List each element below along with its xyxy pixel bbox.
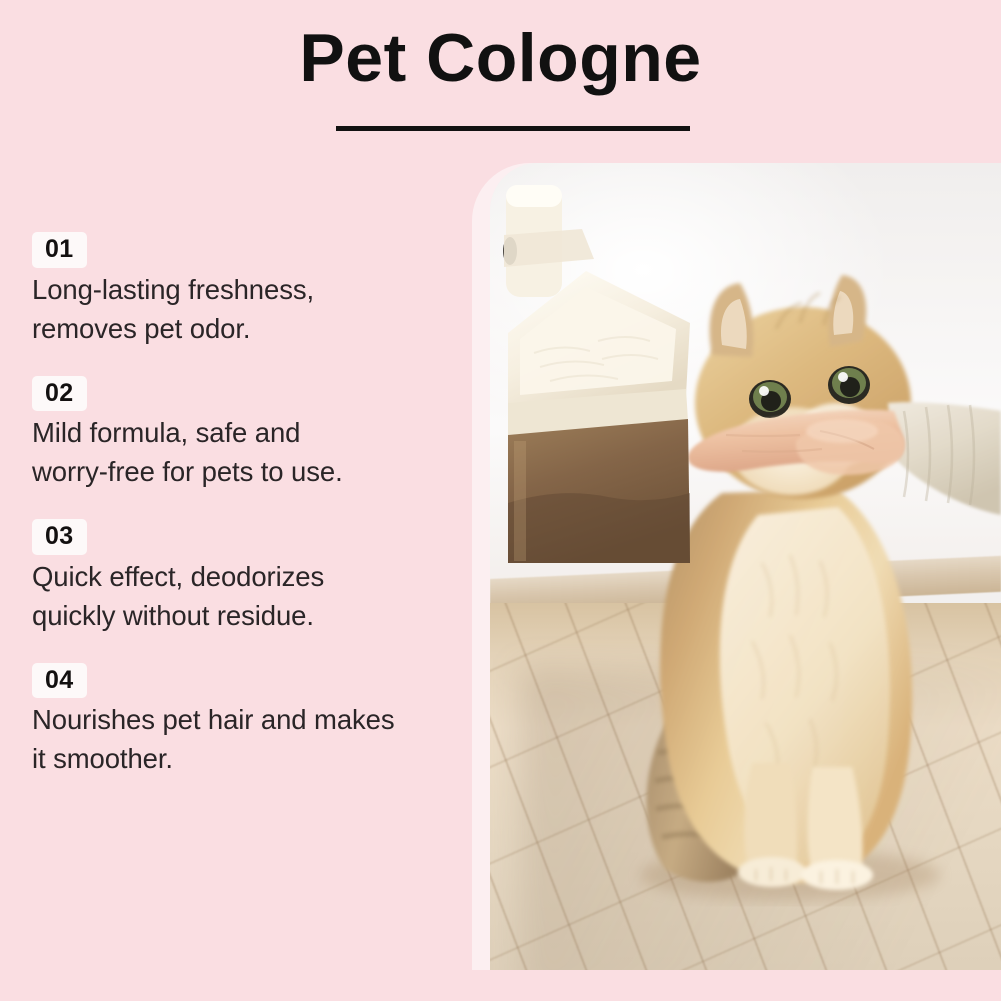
- title-underline: [336, 126, 690, 131]
- feature-description: Nourishes pet hair and makes it smoother…: [32, 700, 472, 778]
- feature-item: 01 Long-lasting freshness, removes pet o…: [32, 232, 472, 348]
- feature-description: Quick effect, deodorizes quickly without…: [32, 557, 472, 635]
- feature-item: 04 Nourishes pet hair and makes it smoot…: [32, 663, 472, 779]
- feature-description: Long-lasting freshness, removes pet odor…: [32, 270, 472, 348]
- feature-number-badge: 02: [32, 376, 87, 412]
- product-photo: [490, 163, 1001, 970]
- feature-number-badge: 03: [32, 519, 87, 555]
- pet-water-fountain: [490, 163, 1001, 970]
- feature-item: 02 Mild formula, safe and worry-free for…: [32, 376, 472, 492]
- product-photo-frame: [472, 163, 1001, 970]
- feature-number-badge: 01: [32, 232, 87, 268]
- infographic-canvas: Pet Cologne 01 Long-lasting freshness, r…: [0, 0, 1001, 1001]
- feature-description: Mild formula, safe and worry-free for pe…: [32, 413, 472, 491]
- feature-number-badge: 04: [32, 663, 87, 699]
- page-title: Pet Cologne: [0, 24, 1001, 92]
- feature-list: 01 Long-lasting freshness, removes pet o…: [32, 232, 472, 778]
- feature-item: 03 Quick effect, deodorizes quickly with…: [32, 519, 472, 635]
